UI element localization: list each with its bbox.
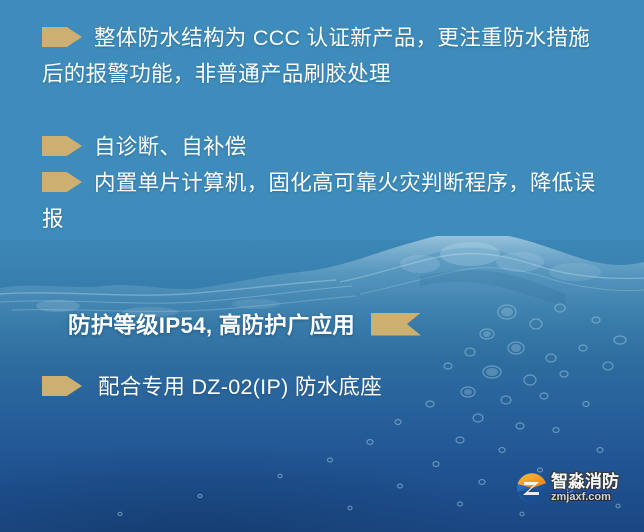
ribbon-banner-icon	[371, 313, 421, 336]
arrow-bullet-icon	[42, 136, 82, 156]
feature-bullet-2: 自诊断、自补偿	[42, 129, 602, 165]
arrow-bullet-icon	[42, 376, 82, 396]
watermark-text: 智淼消防 zmjaxf.com	[551, 473, 619, 503]
watermark-brand: 智淼消防	[551, 473, 619, 490]
feature-bullet-1: 整体防水结构为 CCC 认证新产品，更注重防水措施后的报警功能，非普通产品刷胶处…	[42, 20, 602, 92]
feature-bullet-1-text: 整体防水结构为 CCC 认证新产品，更注重防水措施后的报警功能，非普通产品刷胶处…	[42, 26, 590, 86]
zhisen-logo-icon	[516, 472, 548, 504]
watermark: 智淼消防 zmjaxf.com	[516, 472, 619, 504]
section-heading: 防护等级IP54, 高防护广应用	[68, 308, 421, 340]
section-bullet-1: 配合专用 DZ-02(IP) 防水底座	[42, 369, 602, 405]
content-layer: 整体防水结构为 CCC 认证新产品，更注重防水措施后的报警功能，非普通产品刷胶处…	[0, 0, 644, 532]
section-heading-text: 防护等级IP54, 高防护广应用	[68, 308, 355, 340]
watermark-url: zmjaxf.com	[551, 492, 619, 503]
section-bullet-1-text: 配合专用 DZ-02(IP) 防水底座	[98, 375, 382, 399]
feature-bullet-3-text: 内置单片计算机，固化高可靠火灾判断程序，降低误报	[42, 171, 595, 231]
product-feature-banner: 整体防水结构为 CCC 认证新产品，更注重防水措施后的报警功能，非普通产品刷胶处…	[0, 0, 644, 532]
arrow-bullet-icon	[42, 27, 82, 47]
arrow-bullet-icon	[42, 172, 82, 192]
feature-bullet-3: 内置单片计算机，固化高可靠火灾判断程序，降低误报	[42, 165, 602, 237]
ribbon-banner-shape	[371, 313, 421, 336]
feature-bullet-2-text: 自诊断、自补偿	[94, 135, 247, 159]
